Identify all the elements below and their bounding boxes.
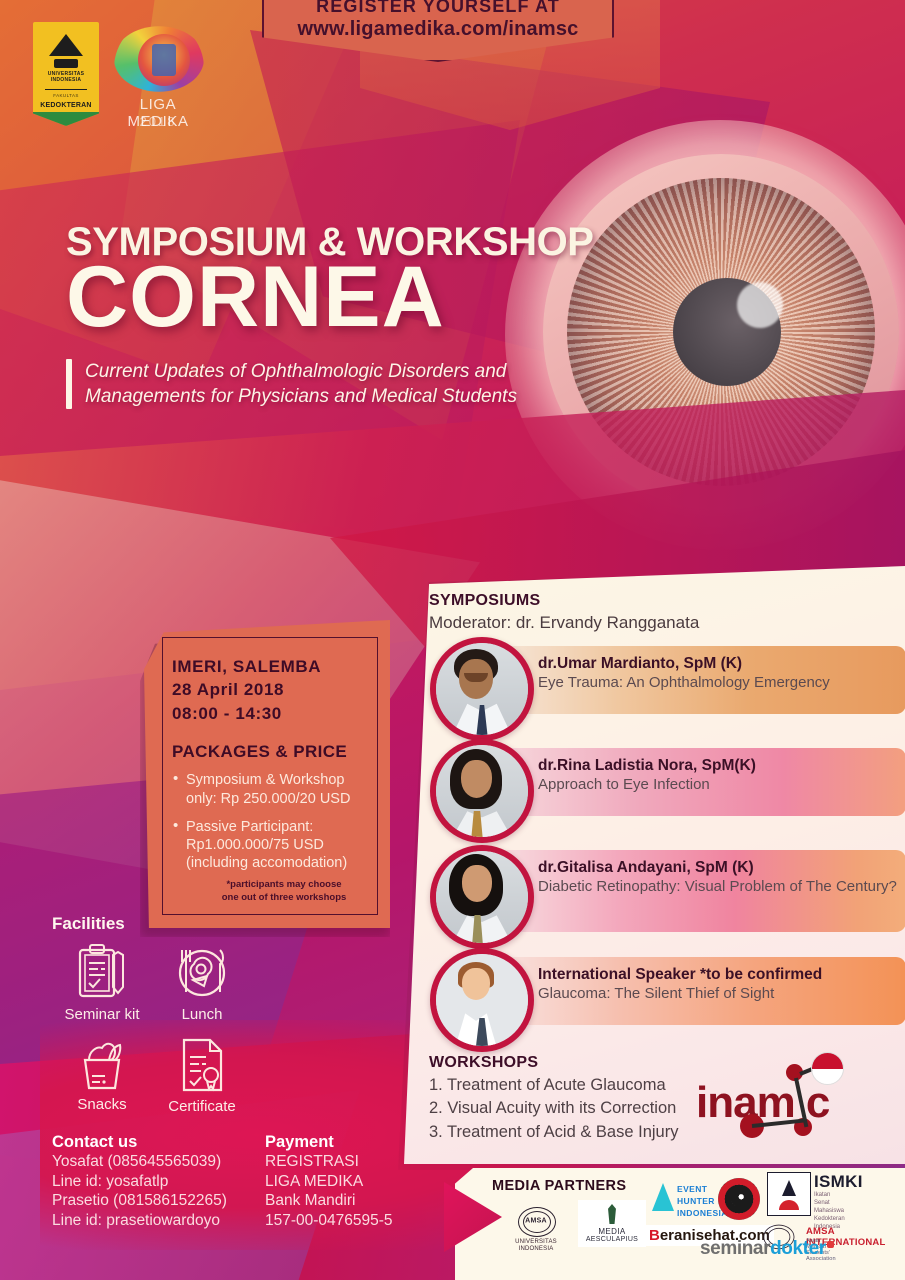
liga-medika-iris-icon	[138, 34, 190, 86]
facility-label: Snacks	[52, 1096, 152, 1113]
facility-lunch: Lunch	[152, 944, 252, 1023]
speaker-row: dr.Gitalisa Andayani, SpM (K) Diabetic R…	[430, 850, 905, 932]
speaker-name: International Speaker *to be confirmed	[538, 966, 898, 985]
media-aesculapius-line1: MEDIA	[578, 1227, 646, 1236]
speaker-topic: Eye Trauma: An Ophthalmology Emergency	[538, 674, 898, 692]
speaker-topic: Glaucoma: The Silent Thief of Sight	[538, 985, 898, 1003]
package-item: Symposium & Workshop only: Rp 250.000/20…	[186, 771, 378, 808]
event-hunter-indonesia-logo: EVENT HUNTER INDONESIA	[652, 1183, 674, 1211]
payment-account-number: 157-00-0476595-5	[265, 1211, 393, 1231]
amsa-seal-icon: AMSA	[514, 1205, 558, 1239]
makara-icon	[49, 34, 83, 68]
payment-line: REGISTRASI	[265, 1152, 393, 1172]
contact-heading: Contact us	[52, 1133, 227, 1152]
speaker-row: International Speaker *to be confirmed G…	[430, 957, 905, 1025]
speaker-text: dr.Gitalisa Andayani, SpM (K) Diabetic R…	[538, 859, 898, 896]
liga-medika-eye-icon	[114, 20, 204, 98]
amsa-caption: UNIVERSITAS INDONESIA	[505, 1239, 567, 1253]
contact-line: Line id: prasetiowardoyo	[52, 1211, 227, 1231]
avatar-photo-female-2	[436, 851, 528, 943]
liga-medika-logo: LIGA MEDIKA 2018	[108, 20, 208, 130]
payment-block: Payment REGISTRASI LIGA MEDIKA Bank Mand…	[265, 1133, 393, 1231]
clipboard-icon	[76, 944, 128, 1002]
beranisehat-initial: B	[649, 1227, 660, 1244]
subtitle-line2: Managements for Physicians and Medical S…	[85, 384, 517, 409]
contact-line: Yosafat (085645565039)	[52, 1152, 227, 1172]
seminardokter-logo: seminar dokter	[700, 1238, 834, 1260]
amsa-seal-text: AMSA	[525, 1217, 547, 1224]
speaker-topic: Approach to Eye Infection	[538, 776, 898, 794]
liga-medika-year: 2018	[108, 114, 208, 129]
workshop-item: 3. Treatment of Acid & Base Injury	[429, 1121, 678, 1144]
contact-block: Contact us Yosafat (085645565039) Line i…	[52, 1133, 227, 1231]
snack-basket-icon	[75, 1036, 129, 1092]
facility-label: Certificate	[152, 1098, 252, 1115]
facility-label: Seminar kit	[52, 1006, 152, 1023]
facility-seminar-kit: Seminar kit	[52, 944, 152, 1023]
seminardokter-part2: dokter	[770, 1238, 826, 1260]
ui-logo-line1: UNIVERSITAS INDONESIA	[33, 71, 99, 84]
facility-certificate: Certificate	[152, 1036, 252, 1115]
ui-logo-divider	[45, 89, 87, 90]
info-box-content: IMERI, SALEMBA 28 April 2018 08:00 - 14:…	[172, 655, 378, 883]
speaker-avatar	[430, 739, 534, 843]
amsa-intl-t1: AMSA	[806, 1226, 834, 1237]
contact-line: Prasetio (081586152265)	[52, 1191, 227, 1211]
workshops-heading: WORKSHOPS	[429, 1054, 538, 1072]
packages-list: Symposium & Workshop only: Rp 250.000/20…	[172, 771, 378, 872]
subtitle: Current Updates of Ophthalmologic Disord…	[85, 359, 517, 409]
speaker-text: dr.Umar Mardianto, SpM (K) Eye Trauma: A…	[538, 655, 898, 692]
poster-canvas: UNIVERSITAS INDONESIA FAKULTAS KEDOKTERA…	[0, 0, 905, 1280]
event-time: 08:00 - 14:30	[172, 702, 378, 725]
speaker-name: dr.Rina Ladistia Nora, SpM(K)	[538, 757, 898, 776]
speaker-avatar	[430, 845, 534, 949]
facility-snacks: Snacks	[52, 1036, 152, 1113]
avatar-icon-generic-person	[436, 954, 528, 1046]
facilities-heading: Facilities	[52, 914, 125, 934]
aesculapius-icon	[603, 1204, 621, 1224]
speaker-name: dr.Gitalisa Andayani, SpM (K)	[538, 859, 898, 878]
subtitle-row: Current Updates of Ophthalmologic Disord…	[66, 359, 626, 409]
payment-heading: Payment	[265, 1133, 393, 1152]
seminardokter-part1: seminar	[700, 1238, 770, 1260]
packages-note-line2: one out of three workshops	[202, 891, 366, 904]
packages-note: *participants may choose one out of thre…	[202, 878, 366, 905]
workshops-list: 1. Treatment of Acute Glaucoma 2. Visual…	[429, 1074, 678, 1144]
payment-line: LIGA MEDIKA	[265, 1172, 393, 1192]
avatar-photo-male-1	[436, 643, 528, 735]
plate-cutlery-icon	[173, 944, 231, 1002]
page-title: CORNEA	[66, 258, 626, 337]
event-date: 28 April 2018	[172, 678, 378, 701]
speaker-text: dr.Rina Ladistia Nora, SpM(K) Approach t…	[538, 757, 898, 794]
seminardokter-dot-icon	[827, 1241, 834, 1248]
venue-date-time: IMERI, SALEMBA 28 April 2018 08:00 - 14:…	[172, 655, 378, 725]
speaker-name: dr.Umar Mardianto, SpM (K)	[538, 655, 898, 674]
packages-note-line1: *participants may choose	[202, 878, 366, 891]
package-item: Passive Participant: Rp1.000.000/75 USD …	[186, 818, 378, 873]
eye-highlight	[737, 282, 783, 328]
register-line1: REGISTER YOURSELF AT	[316, 0, 560, 17]
media-partners-heading: MEDIA PARTNERS	[492, 1178, 627, 1194]
register-url[interactable]: www.ligamedika.com/inamsc	[297, 18, 578, 41]
indonesia-flag-icon	[811, 1052, 844, 1085]
avatar-photo-female-1	[436, 745, 528, 837]
subtitle-accent-bar	[66, 359, 72, 409]
inamsc-logo: inam c	[690, 1052, 850, 1148]
workshop-item: 1. Treatment of Acute Glaucoma	[429, 1074, 678, 1097]
contact-line: Line id: yosafatlp	[52, 1172, 227, 1192]
ui-logo-faculty-label: FAKULTAS	[53, 93, 79, 98]
venue: IMERI, SALEMBA	[172, 655, 378, 678]
workshop-item: 2. Visual Acuity with its Correction	[429, 1097, 678, 1120]
ui-logo-faculty: KEDOKTERAN	[40, 102, 91, 109]
payment-line: Bank Mandiri	[265, 1191, 393, 1211]
eye-circle-logo	[718, 1178, 760, 1220]
ismki-sub1: Ikatan Senat Mahasiswa	[814, 1191, 845, 1215]
facility-label: Lunch	[152, 1006, 252, 1023]
universitas-indonesia-logo: UNIVERSITAS INDONESIA FAKULTAS KEDOKTERA…	[33, 22, 99, 126]
speaker-avatar	[430, 637, 534, 741]
media-aesculapius-logo: MEDIA AESCULAPIUS	[578, 1200, 646, 1247]
packages-heading: PACKAGES & PRICE	[172, 742, 378, 762]
speaker-topic: Diabetic Retinopathy: Visual Problem of …	[538, 878, 898, 896]
moderator-label: Moderator: dr. Ervandy Rangganata	[429, 613, 699, 633]
speaker-text: International Speaker *to be confirmed G…	[538, 966, 898, 1003]
event-hunter-arrow-icon	[652, 1183, 674, 1211]
ismki-title: ISMKI	[814, 1172, 863, 1192]
speaker-row: dr.Rina Ladistia Nora, SpM(K) Approach t…	[430, 748, 905, 816]
certificate-icon	[177, 1036, 227, 1094]
speaker-avatar-placeholder	[430, 948, 534, 1052]
media-aesculapius-line2: AESCULAPIUS	[578, 1236, 646, 1243]
title-block: SYMPOSIUM & WORKSHOP CORNEA Current Upda…	[66, 222, 626, 409]
subtitle-line1: Current Updates of Ophthalmologic Disord…	[85, 359, 517, 384]
amsa-ui-logo: AMSA UNIVERSITAS INDONESIA	[505, 1205, 567, 1253]
ismki-mark-icon	[767, 1172, 811, 1216]
speaker-row: dr.Umar Mardianto, SpM (K) Eye Trauma: A…	[430, 646, 905, 714]
symposiums-heading: SYMPOSIUMS	[429, 592, 540, 610]
